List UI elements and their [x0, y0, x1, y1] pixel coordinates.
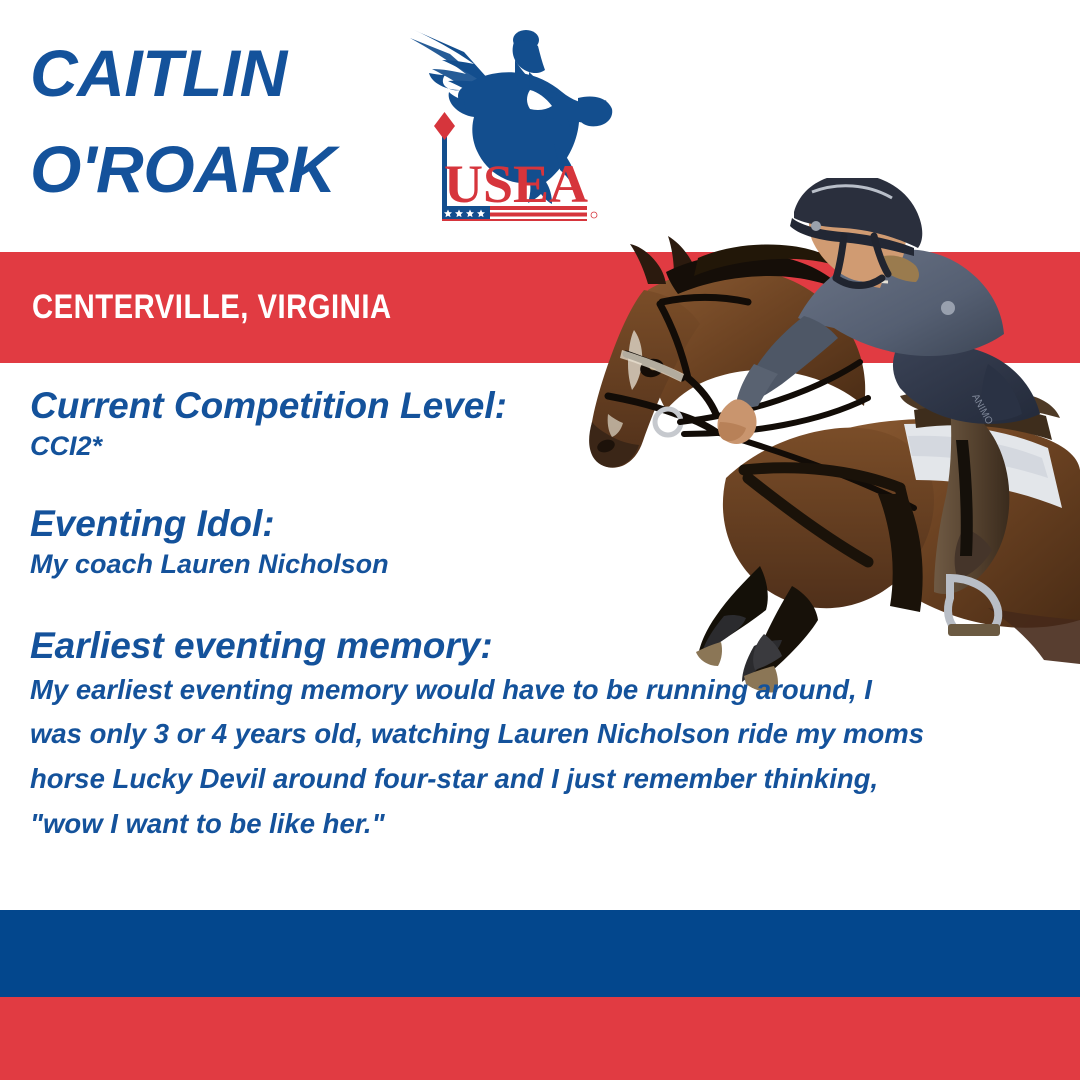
page-title: CAITLIN O'ROARK	[30, 26, 430, 217]
qa-eventing-idol: Eventing Idol: My coach Lauren Nicholson	[0, 503, 1080, 581]
eventing-idol-label: Eventing Idol:	[30, 503, 1080, 544]
location-text: CENTERVILLE, VIRGINIA	[32, 288, 392, 327]
earliest-memory-label: Earliest eventing memory:	[30, 625, 1080, 666]
competition-level-label: Current Competition Level:	[30, 385, 1080, 426]
memory-line: "wow I want to be like her."	[30, 802, 1040, 847]
rider-first-name: CAITLIN	[30, 26, 430, 122]
competition-level-value: CCI2*	[30, 431, 1080, 462]
memory-line: horse Lucky Devil around four-star and I…	[30, 757, 1040, 802]
rider-last-name: O'ROARK	[30, 122, 430, 218]
qa-competition-level: Current Competition Level: CCI2*	[0, 385, 1080, 463]
profile-content: Current Competition Level: CCI2* Eventin…	[0, 363, 1080, 846]
footer-red-bar	[0, 997, 1080, 1080]
footer-blue-bar	[0, 910, 1080, 997]
memory-line: My earliest eventing memory would have t…	[30, 668, 1040, 713]
eventing-idol-value: My coach Lauren Nicholson	[30, 549, 1080, 580]
flag-diamond-icon	[434, 112, 455, 140]
memory-line: was only 3 or 4 years old, watching Laur…	[30, 712, 1040, 757]
qa-earliest-memory: Earliest eventing memory: My earliest ev…	[0, 625, 1080, 847]
earliest-memory-text: My earliest eventing memory would have t…	[30, 668, 1040, 846]
rider-profile-card: CAITLIN O'ROARK	[0, 0, 1080, 1080]
